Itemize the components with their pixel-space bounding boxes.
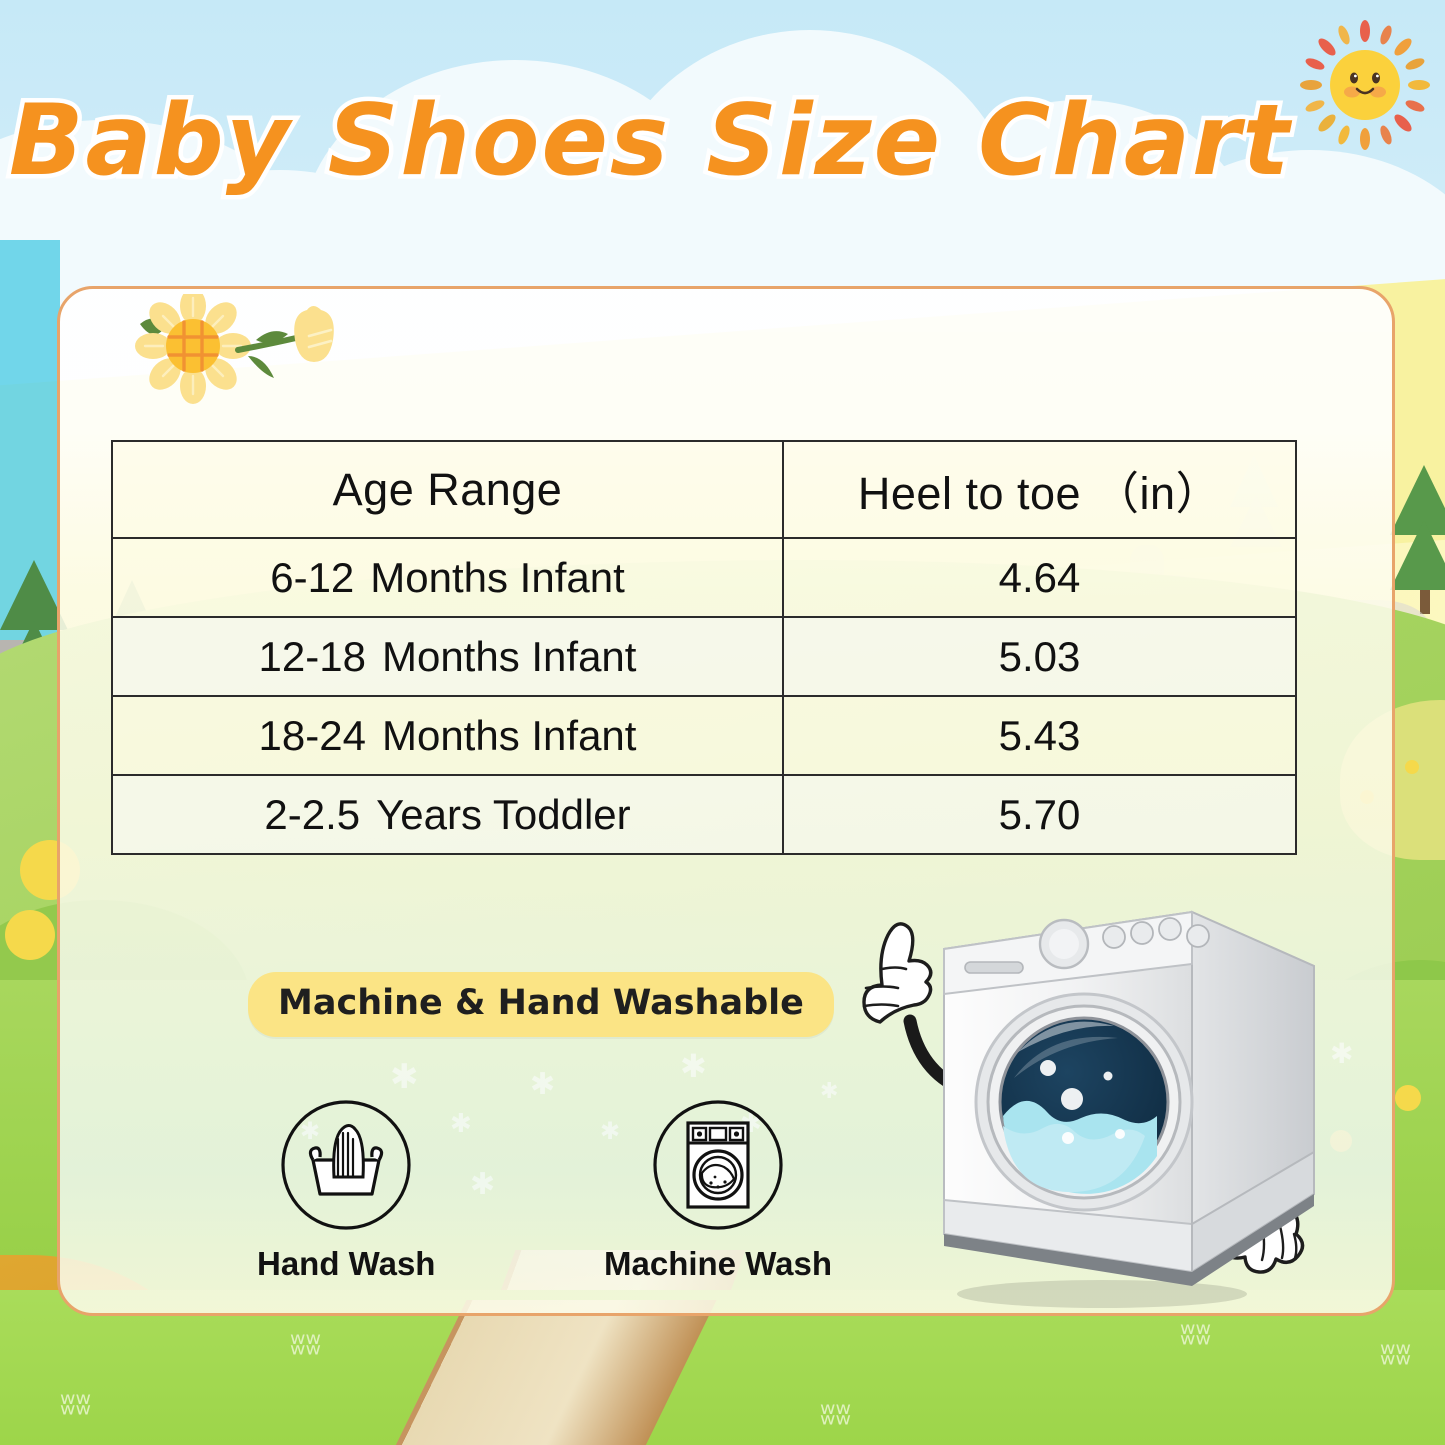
care-symbol-hand-wash: Hand Wash — [257, 1099, 435, 1283]
cell-heel-to-toe: 5.03 — [783, 617, 1296, 696]
table-row: 6-12Months Infant 4.64 — [112, 538, 1296, 617]
cell-age-range: 18-24Months Infant — [112, 696, 783, 775]
washable-badge: Machine & Hand Washable — [248, 972, 834, 1037]
age-suffix: Years Toddler — [376, 791, 631, 838]
flower-icon — [128, 294, 368, 404]
flower-dot — [1405, 760, 1419, 774]
table-row: 18-24Months Infant 5.43 — [112, 696, 1296, 775]
age-suffix: Months Infant — [382, 712, 636, 759]
tree-icon — [1390, 520, 1445, 590]
machine-wash-label: Machine Wash — [604, 1245, 832, 1283]
cell-age-range: 2-2.5Years Toddler — [112, 775, 783, 854]
cell-age-range: 6-12Months Infant — [112, 538, 783, 617]
hand-wash-label: Hand Wash — [257, 1245, 435, 1283]
age-prefix: 6-12 — [270, 554, 354, 601]
cell-age-range: 12-18Months Infant — [112, 617, 783, 696]
column-header-heel-to-toe: Heel to toe （in） — [783, 441, 1296, 538]
size-chart-infographic: ✱ ✱ ✱ ✱ ✱ ✱ ✱ ✱ ✱ ✱ ⁠ʬʬ ⁠ʬʬ ⁠ʬʬ ⁠ʬʬ ⁠ʬʬ — [0, 0, 1445, 1445]
column-header-age-range: Age Range — [112, 441, 783, 538]
grass-tuft: ⁠ʬʬ — [60, 1390, 91, 1420]
cell-heel-to-toe: 5.70 — [783, 775, 1296, 854]
age-prefix: 12-18 — [259, 633, 366, 680]
washing-machine-mascot-icon — [832, 894, 1352, 1314]
age-suffix: Months Infant — [382, 633, 636, 680]
age-suffix: Months Infant — [370, 554, 624, 601]
page-title: Baby Shoes Size Chart — [0, 84, 1300, 198]
content-card: Age Range Heel to toe （in） 6-12Months In… — [57, 286, 1395, 1316]
machine-wash-icon — [652, 1099, 784, 1231]
flower-dot — [1395, 1085, 1421, 1111]
flower-dot — [5, 910, 55, 960]
grass-tuft: ⁠ʬʬ — [1380, 1340, 1411, 1370]
hand-wash-icon — [280, 1099, 412, 1231]
cell-heel-to-toe: 5.43 — [783, 696, 1296, 775]
care-symbol-machine-wash: Machine Wash — [604, 1099, 832, 1283]
grass-tuft: ⁠ʬʬ — [290, 1330, 321, 1360]
age-prefix: 18-24 — [259, 712, 366, 759]
age-prefix: 2-2.5 — [264, 791, 360, 838]
table-header-row: Age Range Heel to toe （in） — [112, 441, 1296, 538]
sun-icon — [1300, 20, 1430, 150]
grass-tuft: ⁠ʬʬ — [820, 1400, 851, 1430]
cell-heel-to-toe: 4.64 — [783, 538, 1296, 617]
grass-tuft: ⁠ʬʬ — [1180, 1320, 1211, 1350]
table-row: 12-18Months Infant 5.03 — [112, 617, 1296, 696]
table-row: 2-2.5Years Toddler 5.70 — [112, 775, 1296, 854]
size-table: Age Range Heel to toe （in） 6-12Months In… — [111, 440, 1297, 855]
